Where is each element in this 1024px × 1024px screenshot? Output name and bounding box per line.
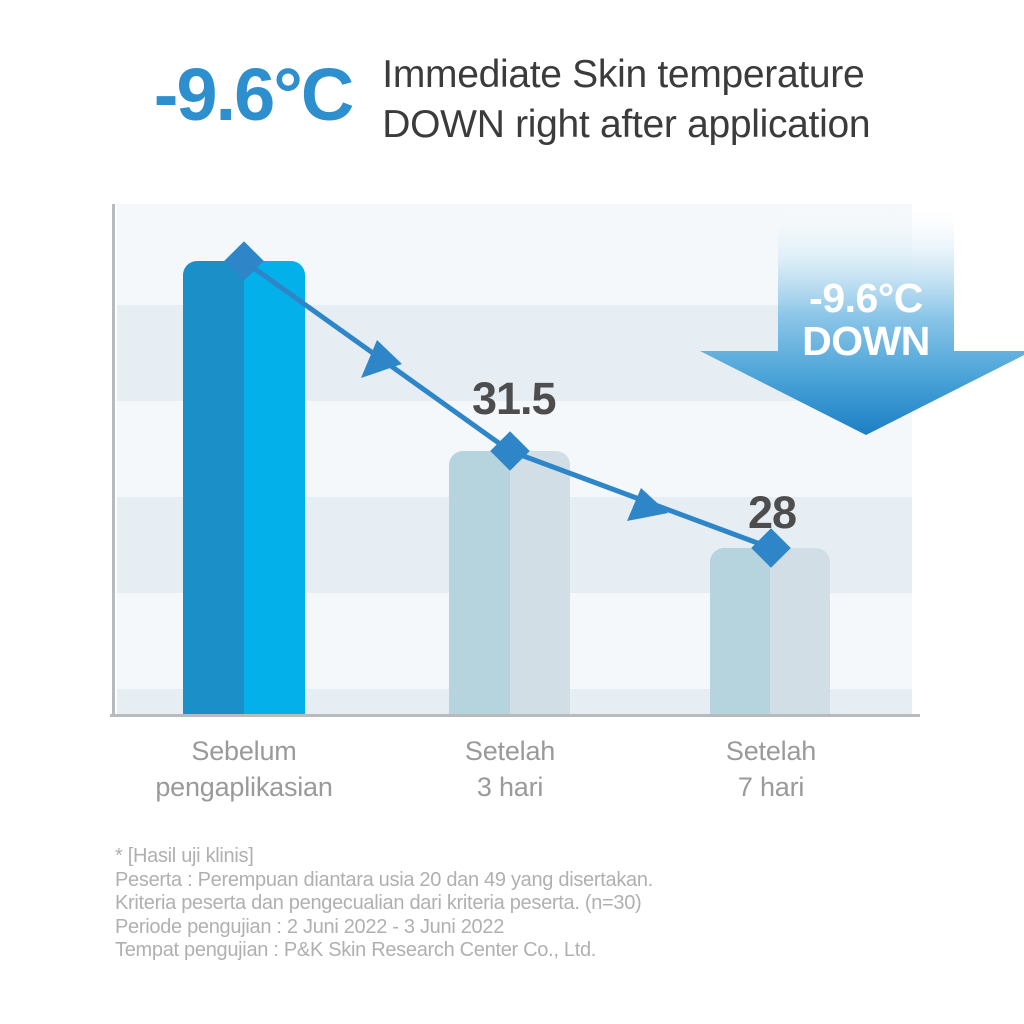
x-label-line-1: Setelah (651, 733, 891, 769)
bar-segment-left (710, 548, 770, 714)
x-axis-labels: Sebelum pengaplikasian Setelah 3 hari Se… (117, 733, 912, 813)
value-label-setelah-7-hari: 28 (748, 487, 796, 539)
bar-segment-left (449, 451, 510, 714)
x-label-line-2: 7 hari (651, 769, 891, 805)
headline-stat-value: -9.6°C (154, 42, 353, 147)
bar-segment-right (510, 451, 571, 714)
footnote: * [Hasil uji klinis] Peserta : Perempuan… (115, 845, 935, 963)
bar-setelah-7-hari (710, 548, 830, 714)
bar-sebelum-pengaplikasian (183, 261, 305, 714)
footnote-line: Peserta : Perempuan diantara usia 20 dan… (115, 869, 935, 893)
temperature-bar-chart: -9.6°C DOWN 31.5 28 (117, 204, 912, 714)
headline-text: Immediate Skin temperature DOWN right af… (382, 42, 870, 150)
footnote-line: Kriteria peserta dan pengecualian dari k… (115, 892, 935, 916)
footnote-line: Tempat pengujian : P&K Skin Research Cen… (115, 939, 935, 963)
x-label-setelah-3-hari: Setelah 3 hari (390, 733, 630, 805)
bar-segment-right (244, 261, 305, 714)
temperature-down-arrow-callout: -9.6°C DOWN (700, 205, 1024, 435)
x-label-sebelum-pengaplikasian: Sebelum pengaplikasian (124, 733, 364, 805)
value-label-setelah-3-hari: 31.5 (472, 373, 556, 425)
x-axis-line (110, 714, 920, 717)
x-label-line-2: pengaplikasian (124, 769, 364, 805)
footnote-line: * [Hasil uji klinis] (115, 845, 935, 869)
x-label-line-1: Sebelum (124, 733, 364, 769)
footnote-line: Periode pengujian : 2 Juni 2022 - 3 Juni… (115, 916, 935, 940)
bar-segment-left (183, 261, 244, 714)
down-arrow-label-line-1: -9.6°C (700, 277, 1024, 320)
down-arrow-label: -9.6°C DOWN (700, 277, 1024, 363)
down-arrow-label-line-2: DOWN (700, 320, 1024, 363)
y-axis-line (112, 204, 115, 714)
headline-line-2: DOWN right after application (382, 100, 870, 150)
x-label-setelah-7-hari: Setelah 7 hari (651, 733, 891, 805)
x-label-line-1: Setelah (390, 733, 630, 769)
header: -9.6°C Immediate Skin temperature DOWN r… (0, 42, 1024, 152)
bar-setelah-3-hari (449, 451, 570, 714)
x-label-line-2: 3 hari (390, 769, 630, 805)
headline-line-1: Immediate Skin temperature (382, 50, 870, 100)
bar-segment-right (770, 548, 830, 714)
